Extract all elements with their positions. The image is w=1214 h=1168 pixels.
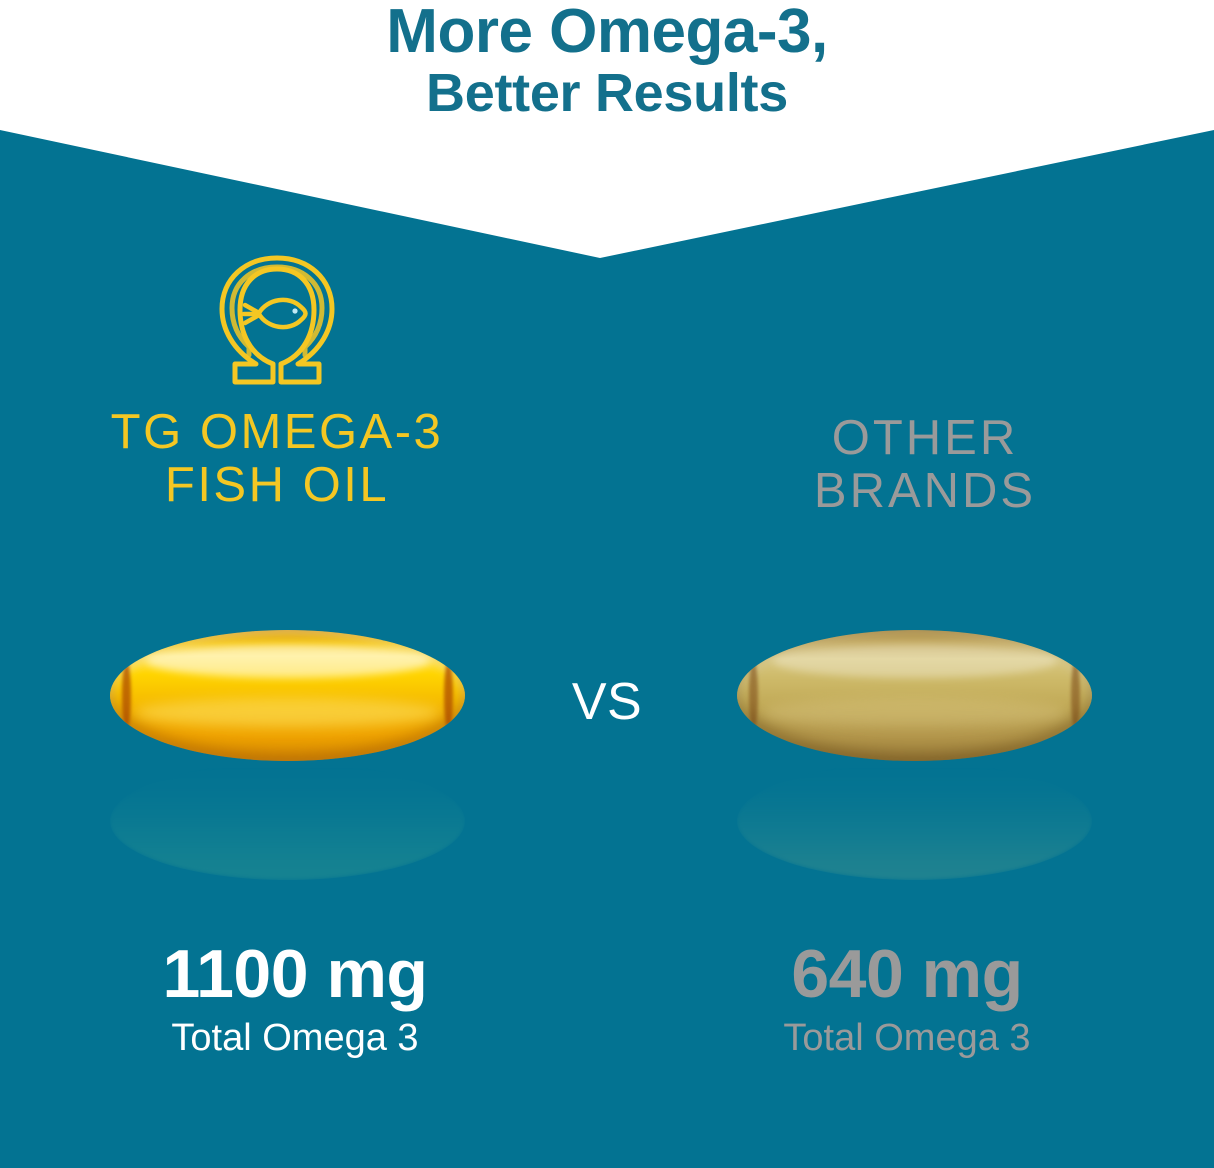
- dosage-tg-omega-3: 1100 mg Total Omega 3: [60, 940, 530, 1060]
- headline: More Omega-3, Better Results: [0, 2, 1214, 120]
- product-column-tg-omega-3: TG OMEGA-3 FISH OIL: [42, 250, 512, 512]
- dosage-label: Total Omega 3: [60, 1018, 530, 1060]
- capsule-reflection: [110, 762, 465, 880]
- headline-line-2: Better Results: [0, 67, 1214, 120]
- dosage-amount: 1100 mg: [60, 940, 530, 1008]
- dosage-other-brands: 640 mg Total Omega 3: [672, 940, 1142, 1060]
- omega-fish-icon: [42, 250, 512, 390]
- omega3-comparison-infographic: More Omega-3, Better Results: [0, 0, 1214, 1168]
- capsule-reflection: [737, 762, 1092, 880]
- product-column-other-brands: OTHER BRANDS: [690, 250, 1160, 518]
- headline-line-1: More Omega-3,: [0, 2, 1214, 63]
- product-title-tg-omega-3: TG OMEGA-3 FISH OIL: [42, 406, 512, 512]
- dosage-label: Total Omega 3: [672, 1018, 1142, 1060]
- versus-label: VS: [0, 672, 1214, 732]
- dosage-amount: 640 mg: [672, 940, 1142, 1008]
- product-title-other-brands: OTHER BRANDS: [690, 412, 1160, 518]
